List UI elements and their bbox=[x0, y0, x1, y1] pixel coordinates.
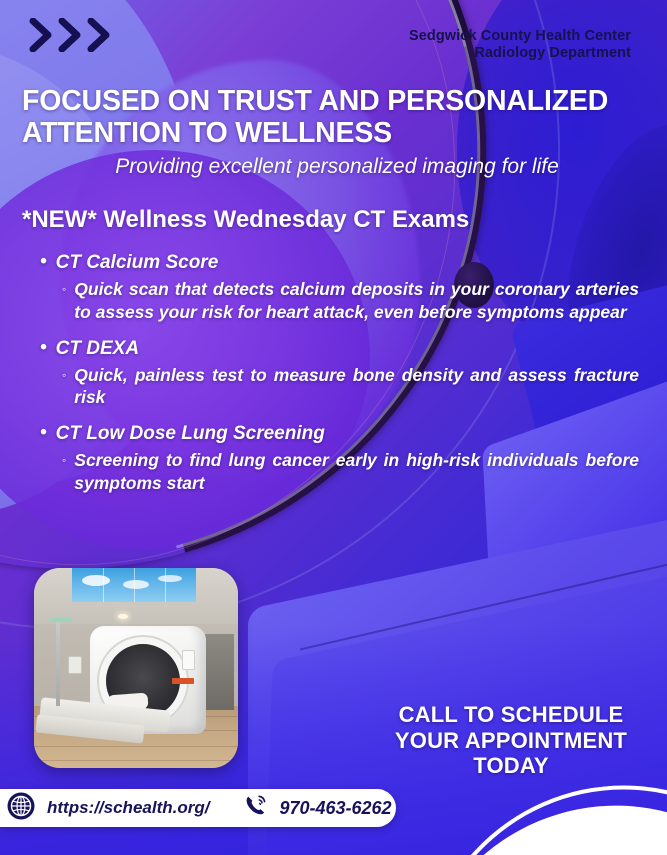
exam-title: CT DEXA bbox=[56, 338, 139, 360]
photo-control-panel bbox=[182, 650, 195, 670]
chevron-right-icon-1 bbox=[28, 18, 54, 52]
chevron-right-icon-2 bbox=[57, 18, 83, 52]
globe-icon bbox=[6, 791, 36, 826]
exam-description-row: ◦ Quick, painless test to measure bone d… bbox=[0, 364, 667, 410]
exam-description-row: ◦ Quick scan that detects calcium deposi… bbox=[0, 278, 667, 324]
photo-iv-pole-top bbox=[50, 618, 72, 622]
call-to-action: CALL TO SCHEDULE YOUR APPOINTMENT TODAY bbox=[371, 702, 651, 779]
bullet-filled-icon: • bbox=[40, 338, 47, 358]
exam-description: Quick scan that detects calcium deposits… bbox=[74, 278, 639, 324]
ct-scanner-photo bbox=[34, 568, 238, 768]
cta-line-3: TODAY bbox=[371, 753, 651, 779]
poster-content: Sedgwick County Health Center Radiology … bbox=[0, 0, 667, 855]
website-link[interactable]: https://schealth.org/ bbox=[47, 798, 209, 818]
exam-description-row: ◦ Screening to find lung cancer early in… bbox=[0, 449, 667, 495]
cta-line-1: CALL TO SCHEDULE bbox=[371, 702, 651, 728]
photo-iv-pole bbox=[56, 622, 60, 706]
phone-number[interactable]: 970-463-6262 bbox=[279, 798, 391, 819]
exam-title-row: • CT Low Dose Lung Screening bbox=[0, 423, 667, 445]
subheadline: *NEW* Wellness Wednesday CT Exams bbox=[22, 206, 469, 234]
photo-sky-panel-grid bbox=[72, 568, 196, 602]
page-title: FOCUSED ON TRUST AND PERSONALIZED ATTENT… bbox=[22, 86, 652, 150]
chevrons-right-icon bbox=[28, 18, 112, 52]
chevron-right-icon-3 bbox=[86, 18, 112, 52]
photo-doorway bbox=[204, 634, 234, 710]
exam-title: CT Low Dose Lung Screening bbox=[56, 423, 325, 445]
tagline: Providing excellent personalized imaging… bbox=[22, 155, 652, 179]
exam-title: CT Calcium Score bbox=[56, 252, 219, 274]
exam-title-row: • CT DEXA bbox=[0, 338, 667, 360]
flyer-poster: Sedgwick County Health Center Radiology … bbox=[0, 0, 667, 855]
exam-list: • CT Calcium Score ◦ Quick scan that det… bbox=[0, 252, 667, 509]
exam-title-row: • CT Calcium Score bbox=[0, 252, 667, 274]
bullet-hollow-icon: ◦ bbox=[62, 278, 66, 301]
cta-line-2: YOUR APPOINTMENT bbox=[371, 728, 651, 754]
phone-ringing-icon bbox=[243, 793, 269, 824]
photo-ceiling-light bbox=[118, 614, 128, 619]
organization-name: Sedgwick County Health Center Radiology … bbox=[409, 28, 631, 62]
photo-wall-box bbox=[68, 656, 82, 674]
photo-orange-label bbox=[172, 678, 194, 684]
contact-bar: https://schealth.org/ 970-463-6262 bbox=[0, 789, 396, 827]
exam-description: Quick, painless test to measure bone den… bbox=[74, 364, 639, 410]
bullet-filled-icon: • bbox=[40, 252, 47, 272]
exam-item: • CT DEXA ◦ Quick, painless test to meas… bbox=[0, 338, 667, 410]
exam-item: • CT Low Dose Lung Screening ◦ Screening… bbox=[0, 423, 667, 495]
organization-line-1: Sedgwick County Health Center bbox=[409, 28, 631, 45]
exam-description: Screening to find lung cancer early in h… bbox=[74, 449, 639, 495]
bullet-hollow-icon: ◦ bbox=[62, 364, 66, 387]
organization-line-2: Radiology Department bbox=[409, 45, 631, 62]
exam-item: • CT Calcium Score ◦ Quick scan that det… bbox=[0, 252, 667, 324]
bullet-filled-icon: • bbox=[40, 423, 47, 443]
bullet-hollow-icon: ◦ bbox=[62, 449, 66, 472]
